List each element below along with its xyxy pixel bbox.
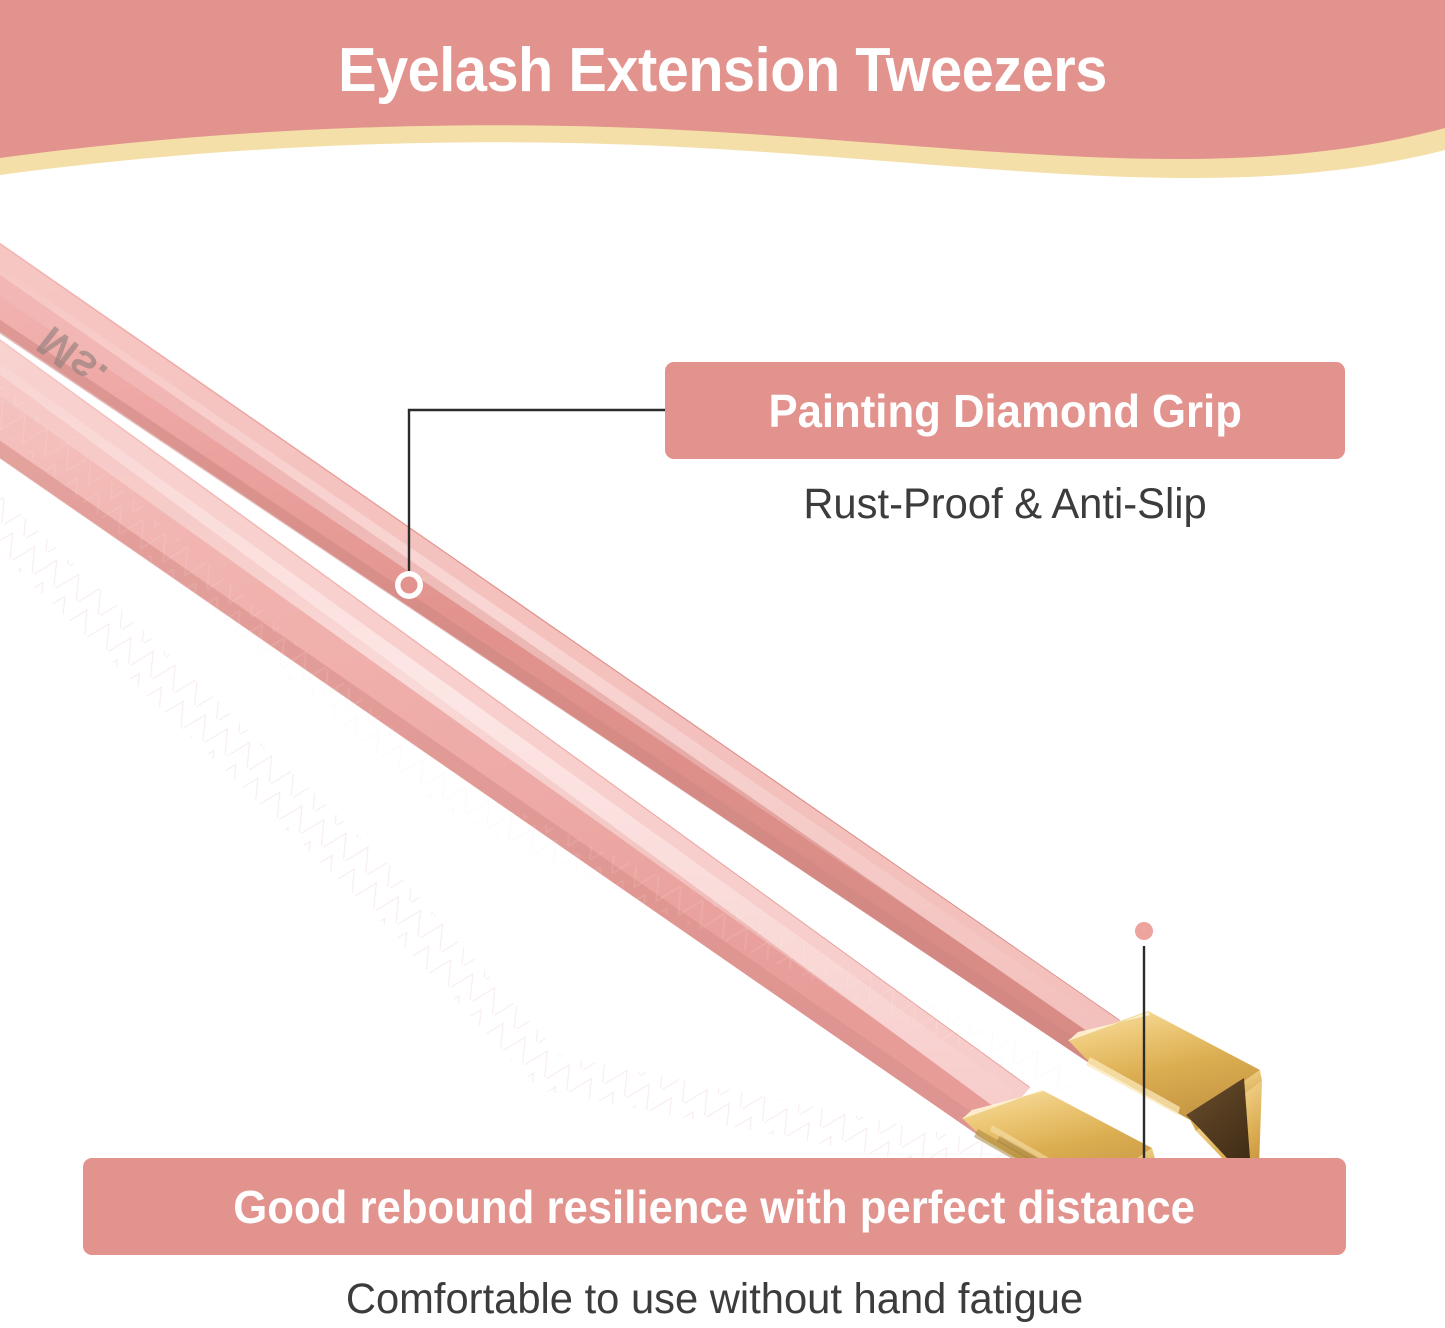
callout-box-grip[interactable]: Painting Diamond Grip [665,362,1345,459]
callout-label-grip: Painting Diamond Grip [768,384,1241,438]
product-image-tweezers: Ms. [0,185,1445,1185]
callout-sublabel-rebound: Comfortable to use without hand fatigue [102,1275,1327,1324]
callout-label-rebound: Good rebound resilience with perfect dis… [234,1180,1196,1234]
infographic-canvas: Eyelash Extension Tweezers [0,0,1445,1328]
page-title: Eyelash Extension Tweezers [51,38,1395,103]
callout-box-rebound[interactable]: Good rebound resilience with perfect dis… [83,1158,1346,1255]
callout-sublabel-grip: Rust-Proof & Anti-Slip [675,480,1335,529]
header-banner: Eyelash Extension Tweezers [0,0,1445,200]
tweezer-upper-arm [0,215,1120,1065]
